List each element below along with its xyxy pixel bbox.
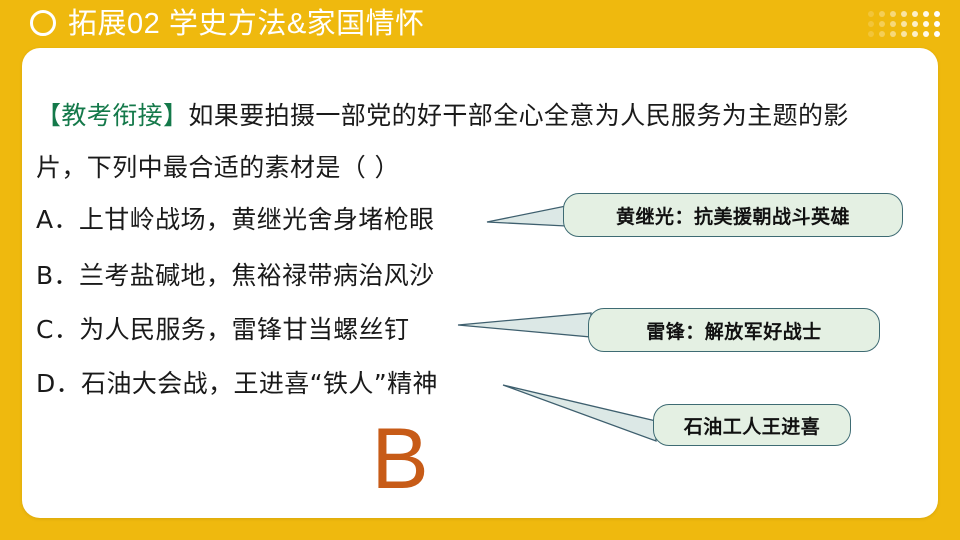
dot: [868, 11, 874, 17]
header-bar: 拓展02 学史方法&家国情怀: [0, 0, 960, 48]
dot: [868, 31, 874, 37]
callout-wang-jinxi: 石油工人王进喜: [653, 404, 851, 446]
page-title: 拓展02 学史方法&家国情怀: [68, 2, 425, 46]
dot: [868, 21, 874, 27]
dot: [923, 21, 929, 27]
dot: [901, 31, 907, 37]
dot: [912, 21, 918, 27]
option-b[interactable]: B．兰考盐碱地，焦裕禄带病治风沙: [36, 256, 435, 292]
dot: [934, 21, 940, 27]
dot-grid-decoration: [865, 9, 942, 39]
option-d[interactable]: D．石油大会战，王进喜“铁人”精神: [36, 364, 438, 400]
content-panel: 【教考衔接】如果要拍摄一部党的好干部全心全意为人民服务为主题的影 片，下列中最合…: [22, 48, 938, 518]
dot: [912, 31, 918, 37]
question-line-1: 【教考衔接】如果要拍摄一部党的好干部全心全意为人民服务为主题的影: [36, 96, 849, 132]
option-a[interactable]: A．上甘岭战场，黄继光舍身堵枪眼: [36, 200, 435, 236]
question-line-1-text: 如果要拍摄一部党的好干部全心全意为人民服务为主题的影: [188, 101, 848, 130]
slide-root: 拓展02 学史方法&家国情怀 【教考衔接】: [0, 0, 960, 540]
dot: [890, 21, 896, 27]
dot: [912, 11, 918, 17]
dot: [890, 11, 896, 17]
dot: [901, 21, 907, 27]
dot: [890, 31, 896, 37]
answer-letter: B: [340, 416, 460, 502]
dot: [923, 31, 929, 37]
circle-outline-icon: [30, 10, 56, 36]
dot: [879, 31, 885, 37]
dot: [934, 31, 940, 37]
dot: [934, 11, 940, 17]
dot: [923, 11, 929, 17]
callout-huang-jiguang: 黄继光：抗美援朝战斗英雄: [563, 193, 903, 237]
option-c[interactable]: C．为人民服务，雷锋甘当螺丝钉: [36, 310, 409, 346]
question-tag: 【教考衔接】: [36, 101, 188, 130]
dot: [879, 21, 885, 27]
dot: [901, 11, 907, 17]
dot: [879, 11, 885, 17]
question-line-2: 片，下列中最合适的素材是（ ）: [36, 148, 400, 184]
callout-lei-feng: 雷锋：解放军好战士: [588, 308, 880, 352]
